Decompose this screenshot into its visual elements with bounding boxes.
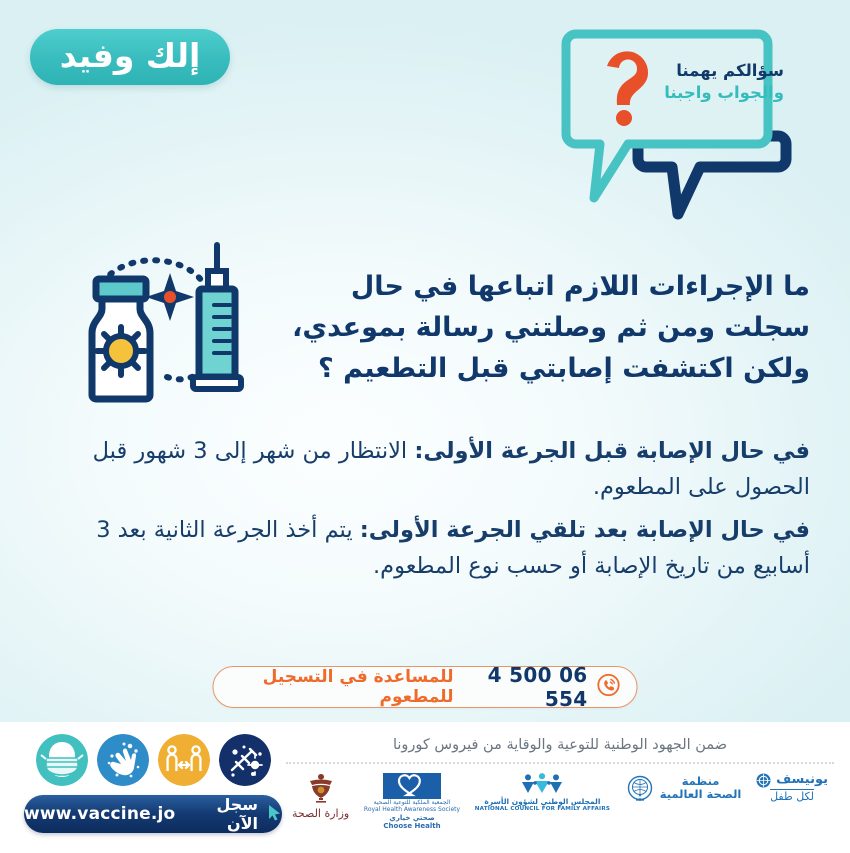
ncfa-arabic-name: المجلس الوطني لشؤون الأسرة (484, 797, 600, 806)
moh-arabic-name: وزارة الصحة (292, 807, 349, 820)
social-distancing-icon (158, 734, 210, 786)
moh-crown-emblem-icon (304, 773, 338, 805)
royal-health-awareness-society-logo: الجمعية الملكية للتوعية الصحية Royal Hea… (364, 773, 460, 831)
brand-badge-label: إلك وفيد (60, 39, 201, 76)
campaign-note: ضمن الجهود الوطنية للتوعية والوقاية من ف… (286, 736, 834, 755)
ministry-of-health-logo: وزارة الصحة (292, 773, 349, 820)
register-now-button[interactable]: سجل الآن www.vaccine.jo (24, 795, 282, 833)
speech-bubbles-group: سؤالكم يهمنا والجواب واجبنا (550, 18, 810, 228)
brand-badge: إلك وفيد (30, 29, 230, 85)
speech-bubble-shapes (550, 18, 810, 230)
who-name-line2: الصحة العالمية (660, 788, 742, 801)
phone-ring-icon (597, 673, 621, 701)
unicef-tagline: لكل طفل (770, 789, 814, 804)
rhas-english-bottom: Choose Health (383, 822, 440, 830)
answer-lead: في حال الإصابة بعد تلقي الجرعة الأولى: (360, 517, 810, 543)
unicef-name: يونيسف (776, 773, 828, 788)
answer-item: في حال الإصابة بعد تلقي الجرعة الأولى: ي… (38, 512, 810, 585)
footer-divider (286, 762, 834, 764)
vaccine-syringe-icon (219, 734, 271, 786)
cursor-arrow-icon (267, 804, 282, 825)
face-mask-icon (36, 734, 88, 786)
register-url[interactable]: www.vaccine.jo (24, 804, 175, 824)
answer-lead: في حال الإصابة قبل الجرعة الأولى: (414, 438, 810, 464)
ncfa-english-name: NATIONAL COUNCIL FOR FAMILY AFFAIRS (475, 806, 610, 812)
vaccine-vial-and-syringe-illustration (62, 237, 257, 412)
rhas-arabic-top: الجمعية الملكية للتوعية الصحية (374, 799, 451, 807)
illustration-shapes (62, 237, 257, 412)
who-emblem-icon (625, 773, 655, 803)
syringe-icon (193, 245, 241, 389)
rhas-heart-icon (383, 773, 441, 799)
national-council-family-affairs-logo: المجلس الوطني لشؤون الأسرة NATIONAL COUN… (475, 773, 610, 812)
speech-bubble-text: سؤالكم يهمنا والجواب واجبنا (634, 60, 784, 105)
footer-right-block: ضمن الجهود الوطنية للتوعية والوقاية من ف… (286, 736, 834, 831)
who-name-line1: منظمة (660, 775, 742, 788)
ncfa-emblem-icon (514, 773, 570, 797)
sparkle-icon (146, 273, 194, 321)
rhas-arabic-bottom: صحتي خياري (389, 814, 434, 822)
answer-item: في حال الإصابة قبل الجرعة الأولى: الانتظ… (38, 433, 810, 506)
prevention-icons-group (24, 734, 282, 786)
helpline-label: للمساعدة في التسجيل للمطعوم (228, 667, 454, 707)
footer: سجل الآن www.vaccine.jo ضمن الجهود الوطن… (0, 722, 850, 853)
bubble-line-2: والجواب واجبنا (634, 82, 784, 104)
page-title: ما الإجراءات اللازم اتباعها في حال سجلت … (290, 266, 810, 389)
infographic-poster: إلك وفيد سؤالكم يهمنا والجواب واجبنا (0, 0, 850, 853)
helpline-badge[interactable]: 06 500 4 554 للمساعدة في التسجيل للمطعوم (213, 666, 638, 708)
helpline-number[interactable]: 06 500 4 554 (463, 663, 588, 711)
teal-speech-bubble (566, 34, 768, 198)
register-arabic-label: سجل الآن (184, 795, 258, 833)
unicef-logo: يونيسف لكل طفل (756, 773, 828, 804)
partner-logos-row: يونيسف لكل طفل منظمة الصحة ا (286, 773, 834, 831)
footer-left-block: سجل الآن www.vaccine.jo (24, 734, 282, 833)
virus-icon (97, 327, 145, 375)
hand-washing-icon (97, 734, 149, 786)
who-logo: منظمة الصحة العالمية (625, 773, 742, 803)
unicef-globe-icon (756, 773, 771, 788)
bubble-line-1: سؤالكم يهمنا (634, 60, 784, 82)
rhas-english-top: Royal Health Awareness Society (364, 806, 460, 814)
answer-list: في حال الإصابة قبل الجرعة الأولى: الانتظ… (38, 433, 810, 591)
